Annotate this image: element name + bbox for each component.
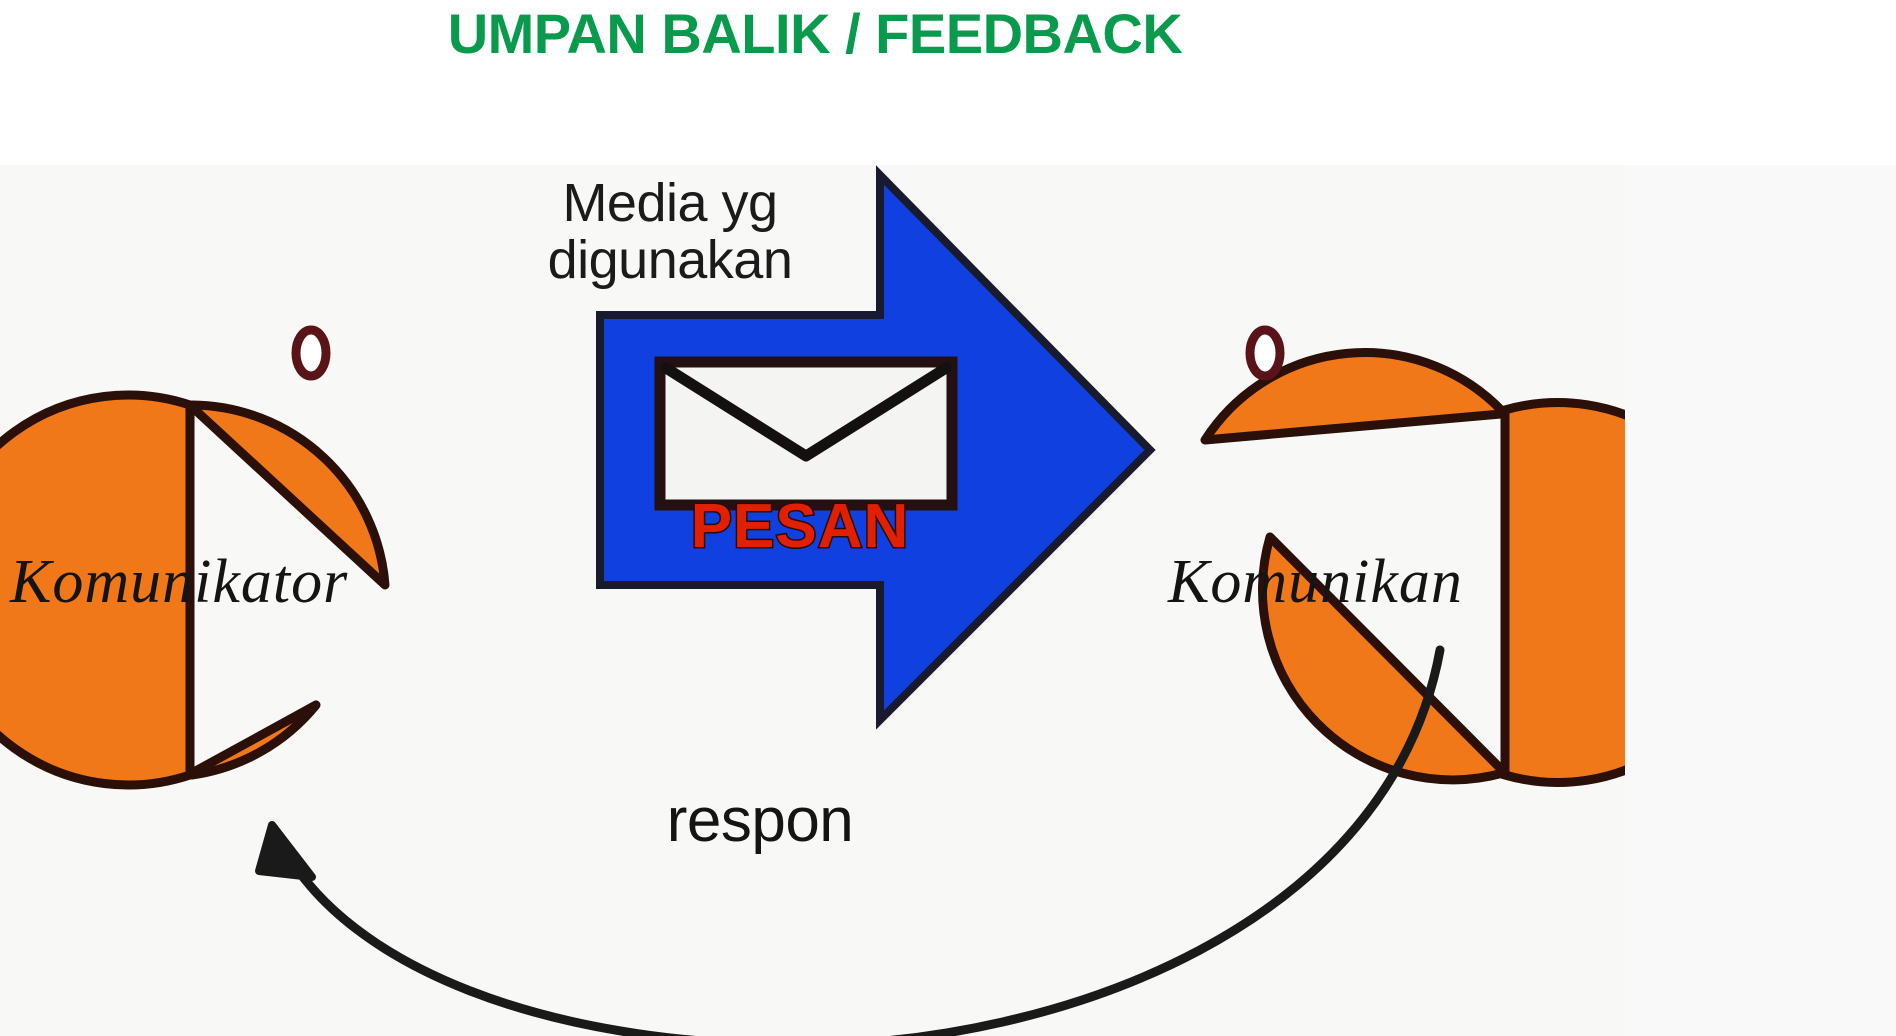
title-band: UMPAN BALIK / FEEDBACK bbox=[0, 0, 1896, 165]
communication-diagram: Media yg digunakan PESAN Komunikator Kom… bbox=[0, 165, 1625, 1036]
sender-lower-jaw bbox=[192, 705, 316, 775]
feedback-label: respon bbox=[530, 785, 990, 856]
sender-label: Komunikator bbox=[10, 547, 348, 618]
media-label: Media yg digunakan bbox=[470, 175, 870, 288]
sender-eye-icon bbox=[296, 330, 326, 376]
diagram-stage: Media yg digunakan PESAN Komunikator Kom… bbox=[0, 165, 1896, 1036]
envelope-body bbox=[660, 362, 952, 505]
receiver-label: Komunikan bbox=[1168, 547, 1463, 618]
feedback-arrow-head bbox=[259, 825, 312, 877]
receiver-eye-icon bbox=[1250, 330, 1280, 376]
page-title: UMPAN BALIK / FEEDBACK bbox=[0, 2, 1630, 66]
envelope-icon bbox=[660, 362, 952, 505]
receiver-body bbox=[1505, 403, 1625, 783]
message-label: PESAN bbox=[600, 491, 1000, 562]
